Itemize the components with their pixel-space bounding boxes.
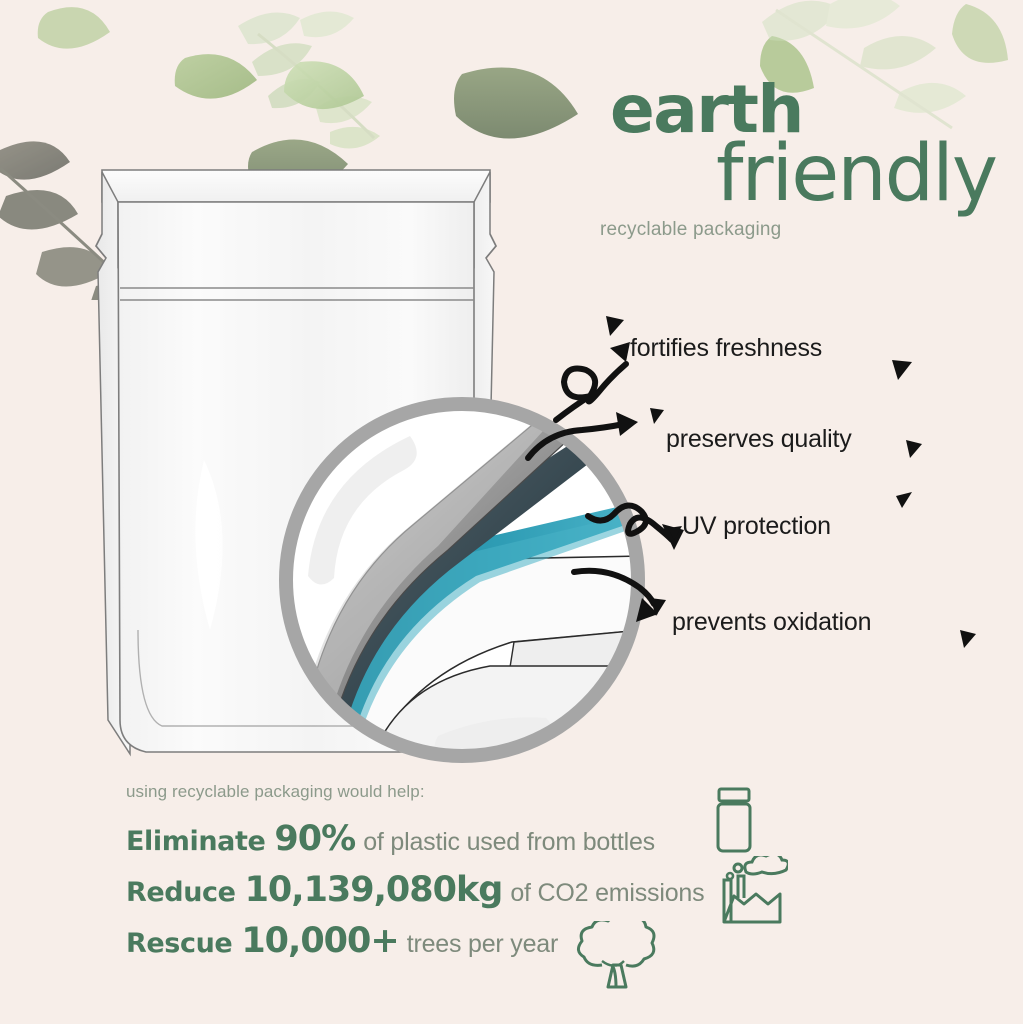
annotation-label-fortifies-freshness: fortifies freshness bbox=[630, 334, 822, 363]
tree-icon bbox=[572, 921, 660, 991]
stat-number: 90% bbox=[274, 819, 355, 859]
stat-verb: Eliminate bbox=[126, 826, 265, 857]
leaf-sprig-pale bbox=[238, 11, 380, 148]
stat-verb: Rescue bbox=[126, 928, 232, 959]
pouch-top-seal bbox=[102, 170, 490, 202]
stat-number: 10,139,080kg bbox=[245, 870, 503, 910]
headline-block: earth friendly recyclable packaging bbox=[596, 78, 996, 241]
annotation-labels: fortifies freshness preserves quality UV… bbox=[520, 300, 1020, 680]
stat-row-reduce: Reduce 10,139,080kg of CO2 emissions bbox=[126, 870, 906, 921]
factory-icon bbox=[714, 856, 788, 926]
infographic-poster: earth friendly recyclable packaging bbox=[0, 0, 1023, 1024]
stat-tail: trees per year bbox=[407, 930, 558, 959]
stat-row-eliminate: Eliminate 90% of plastic used from bottl… bbox=[126, 819, 906, 870]
annotation-label-uv-protection: UV protection bbox=[682, 512, 831, 541]
headline-line-friendly: friendly bbox=[596, 137, 996, 212]
stat-tail: of CO2 emissions bbox=[510, 879, 704, 908]
annotation-label-preserves-quality: preserves quality bbox=[666, 425, 852, 454]
stats-block: using recyclable packaging would help: E… bbox=[126, 782, 906, 972]
stats-intro-text: using recyclable packaging would help: bbox=[126, 782, 906, 802]
headline-subtitle: recyclable packaging bbox=[596, 219, 996, 241]
annotation-label-prevents-oxidation: prevents oxidation bbox=[672, 608, 871, 637]
stat-verb: Reduce bbox=[126, 877, 236, 908]
jar-icon bbox=[706, 786, 762, 854]
stat-number: 10,000+ bbox=[241, 921, 398, 961]
stat-tail: of plastic used from bottles bbox=[363, 828, 655, 857]
stat-row-rescue: Rescue 10,000+ trees per year bbox=[126, 921, 906, 972]
